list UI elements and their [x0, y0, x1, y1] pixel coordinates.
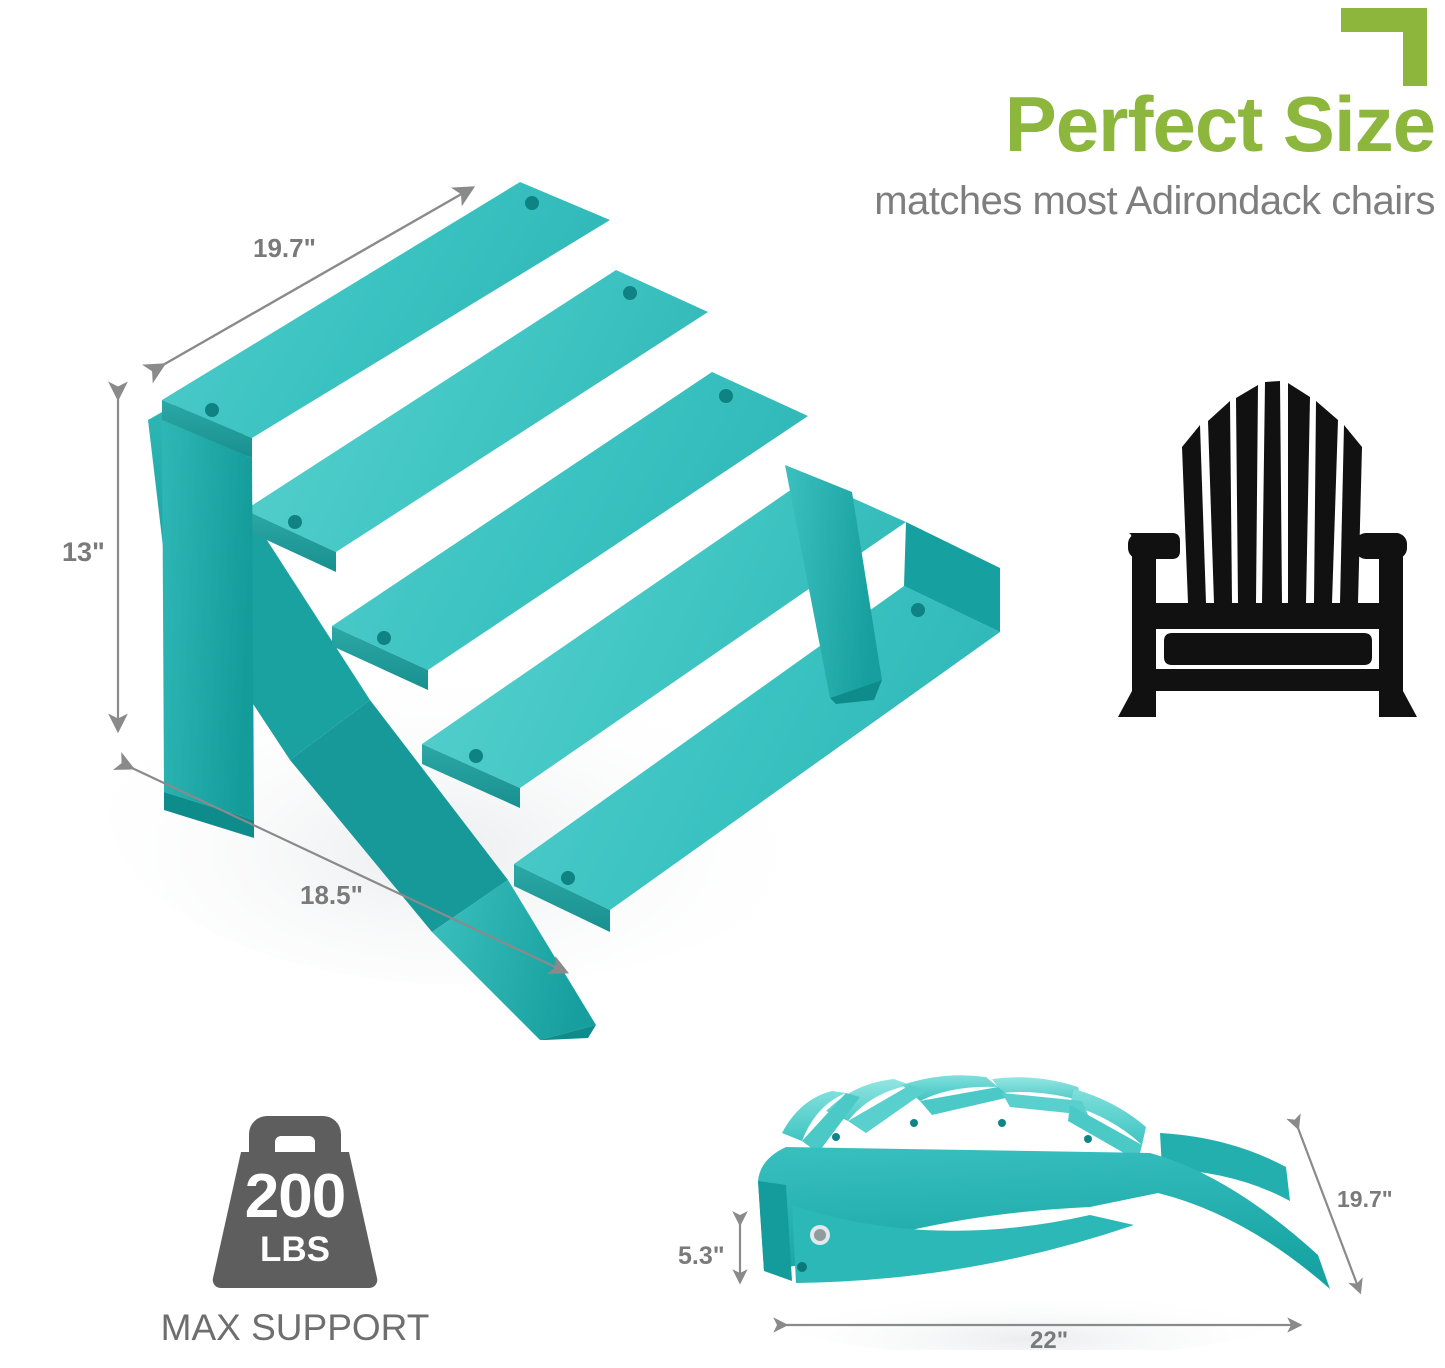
dim-label-folded-thickness: 5.3" [678, 1242, 725, 1271]
weight-caption: MAX SUPPORT [150, 1307, 440, 1349]
corner-bracket-icon [1341, 8, 1427, 86]
infographic-canvas: Perfect Size matches most Adirondack cha… [0, 0, 1445, 1363]
dim-label-height: 13" [62, 537, 105, 568]
weight-value: 200 [195, 1166, 395, 1228]
weight-capacity-badge: 200 LBS MAX SUPPORT [150, 1108, 440, 1349]
dim-label-folded-diagonal: 19.7" [1337, 1186, 1393, 1213]
weight-unit: LBS [195, 1232, 395, 1267]
dim-label-width-top: 19.7" [253, 233, 316, 264]
adirondack-chair-silhouette-icon [1110, 365, 1425, 735]
weight-kettlebell-icon: 200 LBS [195, 1108, 395, 1293]
folded-product-image [730, 1075, 1370, 1350]
dim-label-folded-width: 22" [1030, 1327, 1068, 1355]
main-product-image [40, 120, 1000, 1040]
dim-label-depth: 18.5" [300, 880, 363, 911]
leg-front-left [162, 420, 254, 838]
